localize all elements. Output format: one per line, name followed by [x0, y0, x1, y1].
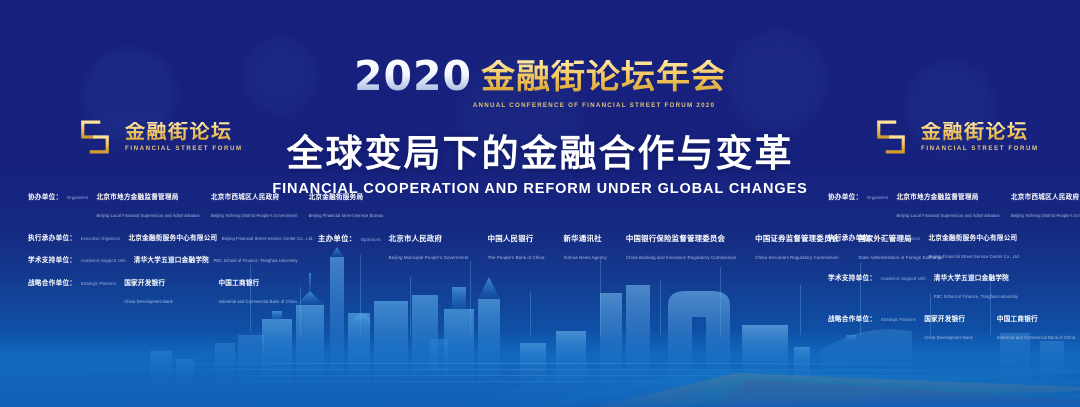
- sponsor-item: 中国工商银行 Industrial and Commercial Bank of…: [997, 308, 1078, 344]
- forum-logo-cn: 金融街论坛: [125, 122, 243, 143]
- sponsor-item-en: State Administration of Foreign Exchange: [858, 255, 943, 260]
- sponsor-row-label: 战略合作单位： Strategic Partners: [828, 308, 916, 326]
- sponsor-item: 清华大学五道口金融学院 PBC School of Finance, Tsing…: [934, 267, 1078, 303]
- sponsor-row-label: 协办单位： Organizers: [28, 186, 88, 204]
- sponsor-panel-center: 主办单位： Sponsors 北京市人民政府 Beijing Municipal…: [318, 228, 768, 264]
- sponsor-item: 北京金融街服务中心有限公司 Beijing Financial Street S…: [128, 227, 313, 245]
- forum-logo-cn: 金融街论坛: [921, 122, 1039, 143]
- event-title-cn: 金融街论坛年会: [481, 60, 726, 94]
- sponsor-item: 北京金融街服务中心有限公司 Beijing Financial Street S…: [928, 227, 1078, 263]
- sponsor-row: 协办单位： Organizers 北京市地方金融监督管理局 Beijing Lo…: [28, 186, 328, 222]
- sponsor-items: 北京金融街服务中心有限公司 Beijing Financial Street S…: [928, 227, 1078, 263]
- sponsor-item-cn: 北京市西城区人民政府: [211, 194, 279, 201]
- sponsor-item-cn: 北京金融街服务局: [309, 194, 364, 201]
- sponsor-row: 主办单位： Sponsors 北京市人民政府 Beijing Municipal…: [318, 228, 768, 264]
- sponsor-item-en: China Development Bank: [924, 335, 973, 340]
- sponsor-item-cn: 中国证券监督管理委员会: [755, 234, 839, 243]
- sponsor-items: 国家开发银行 China Development Bank 中国工商银行 Ind…: [924, 308, 1078, 344]
- conference-backdrop: 2020 金融街论坛年会 ANNUAL CONFERENCE OF FINANC…: [0, 0, 1080, 407]
- sponsor-item: 北京市地方金融监督管理局 Beijing Local Financial Sup…: [96, 186, 199, 222]
- sponsor-item-en: Beijing Xicheng District People's Govern…: [1011, 213, 1080, 218]
- sponsor-item: 北京市西城区人民政府 Beijing Xicheng District Peop…: [1011, 186, 1080, 222]
- fsf-monogram-icon: [74, 116, 116, 158]
- sponsor-row-label: 协办单位： Organizers: [828, 186, 888, 204]
- sponsor-item: 中国银行保险监督管理委员会 China Banking and Insuranc…: [626, 228, 736, 264]
- sponsor-row-label: 战略合作单位： Strategic Partners: [28, 272, 116, 290]
- sponsor-items: 北京市地方金融监督管理局 Beijing Local Financial Sup…: [896, 186, 1080, 222]
- sponsor-item-en: Beijing Financial Street Service Bureau: [309, 213, 384, 218]
- sponsor-items: 清华大学五道口金融学院 PBC School of Finance, Tsing…: [934, 267, 1078, 303]
- sponsor-label-cn: 学术支持单位：: [828, 275, 876, 282]
- sponsor-item: 国家开发银行 China Development Bank: [924, 308, 986, 344]
- sponsor-row-label: 执行承办单位： Executive Organizer: [28, 227, 120, 245]
- sponsor-items: 清华大学五道口金融学院 PBC School of Finance, Tsing…: [134, 249, 298, 267]
- sponsor-item: 中国证券监督管理委员会 China Securities Regulatory …: [755, 228, 839, 264]
- sponsor-item-en: Industrial and Commercial Bank of China: [218, 299, 296, 304]
- sponsor-row: 协办单位： Organizers 北京市地方金融监督管理局 Beijing Lo…: [828, 186, 1078, 222]
- forum-logo-en: FINANCIAL STREET FORUM: [921, 145, 1039, 152]
- sponsor-item-en: China Development Bank: [124, 299, 173, 304]
- sponsor-row: 执行承办单位： Executive Organizer 北京金融街服务中心有限公…: [28, 227, 328, 245]
- sponsor-item-cn: 中国工商银行: [218, 280, 259, 287]
- title-row: 2020 金融街论坛年会: [0, 56, 1080, 97]
- forum-logo-right: 金融街论坛 FINANCIAL STREET FORUM: [870, 116, 1039, 158]
- sponsor-item-cn: 北京市西城区人民政府: [1011, 194, 1079, 201]
- sponsor-item-cn: 国家开发银行: [924, 316, 965, 323]
- sponsor-item-en: PBC School of Finance, Tsinghua Universi…: [213, 258, 297, 263]
- sponsor-item-cn: 清华大学五道口金融学院: [934, 275, 1009, 282]
- sponsor-label-en: Sponsors: [361, 237, 381, 242]
- sponsor-item-en: Xinhua News Agency: [564, 255, 607, 260]
- sponsor-row-label: 学术支持单位： Academic Support Unit: [28, 249, 126, 267]
- sponsor-label-cn: 协办单位：: [28, 194, 62, 201]
- sponsor-label-cn: 执行承办单位：: [28, 235, 76, 242]
- sponsor-item-cn: 清华大学五道口金融学院: [134, 257, 209, 264]
- sponsor-row-label: 学术支持单位： Academic Support Unit: [828, 267, 926, 285]
- sponsor-item-en: China Banking and Insurance Regulatory C…: [626, 255, 736, 260]
- sponsor-item: 北京金融街服务局 Beijing Financial Street Servic…: [309, 186, 384, 222]
- sponsor-panel-right: 协办单位： Organizers 北京市地方金融监督管理局 Beijing Lo…: [828, 186, 1078, 344]
- sponsor-item-en: Beijing Xicheng District People's Govern…: [211, 213, 298, 218]
- forum-logo-left: 金融街论坛 FINANCIAL STREET FORUM: [74, 116, 243, 158]
- sponsor-row: 学术支持单位： Academic Support Unit 清华大学五道口金融学…: [28, 249, 328, 267]
- sponsor-label-cn: 学术支持单位：: [28, 257, 76, 264]
- sponsor-label-en: Strategic Partners: [81, 281, 116, 286]
- sponsor-panel-left: 协办单位： Organizers 北京市地方金融监督管理局 Beijing Lo…: [28, 186, 328, 308]
- sponsor-item: 新华通讯社 Xinhua News Agency: [564, 228, 607, 264]
- sponsor-label-en: Academic Support Unit: [881, 276, 926, 281]
- sponsor-item: 北京市人民政府 Beijing Municipal People's Gover…: [389, 228, 469, 264]
- sponsor-label-en: Organizers: [67, 195, 89, 200]
- sponsor-item: 国家外汇管理局 State Administration of Foreign …: [858, 228, 943, 264]
- sponsor-item-en: The People's Bank of China: [488, 255, 545, 260]
- sponsor-row: 战略合作单位： Strategic Partners 国家开发银行 China …: [828, 308, 1078, 344]
- sponsor-label-cn: 战略合作单位：: [828, 316, 876, 323]
- sponsor-item: 清华大学五道口金融学院 PBC School of Finance, Tsing…: [134, 249, 298, 267]
- sponsor-item-cn: 北京市人民政府: [389, 234, 443, 243]
- sponsor-row: 学术支持单位： Academic Support Unit 清华大学五道口金融学…: [828, 267, 1078, 303]
- sponsor-item-cn: 中国银行保险监督管理委员会: [626, 234, 725, 243]
- sponsor-item-cn: 中国人民银行: [488, 234, 534, 243]
- sponsor-label-cn: 战略合作单位：: [28, 280, 76, 287]
- sponsor-row: 战略合作单位： Strategic Partners 国家开发银行 China …: [28, 272, 328, 308]
- sponsor-item-en: Industrial and Commercial Bank of China: [997, 335, 1075, 340]
- sponsor-label-en: Academic Support Unit: [81, 258, 126, 263]
- sponsor-item-en: Beijing Local Financial Supervision and …: [896, 213, 999, 218]
- sponsor-item: 国家开发银行 China Development Bank: [124, 272, 207, 308]
- event-year: 2020: [354, 56, 472, 97]
- sponsor-label-cn: 协办单位：: [828, 194, 862, 201]
- sponsor-label-en: Strategic Partners: [881, 317, 916, 322]
- sponsor-label-en: Organizers: [867, 195, 889, 200]
- sponsor-item-cn: 北京金融街服务中心有限公司: [128, 235, 217, 242]
- sponsor-items: 北京市人民政府 Beijing Municipal People's Gover…: [389, 228, 943, 264]
- sponsor-item: 中国工商银行 Industrial and Commercial Bank of…: [218, 272, 328, 308]
- sponsor-items: 北京金融街服务中心有限公司 Beijing Financial Street S…: [128, 227, 313, 245]
- sponsor-item-en: Beijing Financial Street Service Center …: [222, 236, 314, 241]
- forum-logo-text: 金融街论坛 FINANCIAL STREET FORUM: [921, 122, 1039, 152]
- sponsor-items: 北京市地方金融监督管理局 Beijing Local Financial Sup…: [96, 186, 383, 222]
- fsf-monogram-icon: [870, 116, 912, 158]
- sponsor-item: 北京市地方金融监督管理局 Beijing Local Financial Sup…: [896, 186, 999, 222]
- event-title-block: 2020 金融街论坛年会 ANNUAL CONFERENCE OF FINANC…: [0, 56, 1080, 109]
- sponsor-item-en: China Securities Regulatory Commission: [755, 255, 839, 260]
- sponsor-item-cn: 国家外汇管理局: [858, 234, 912, 243]
- sponsor-row-label: 主办单位： Sponsors: [318, 228, 381, 246]
- event-title-en: ANNUAL CONFERENCE OF FINANCIAL STREET FO…: [0, 102, 1080, 109]
- sponsor-items: 国家开发银行 China Development Bank 中国工商银行 Ind…: [124, 272, 328, 308]
- sponsor-item-cn: 新华通讯社: [564, 234, 602, 243]
- sponsor-label-cn: 主办单位：: [318, 234, 356, 243]
- sponsor-item-cn: 北京市地方金融监督管理局: [896, 194, 978, 201]
- forum-logo-text: 金融街论坛 FINANCIAL STREET FORUM: [125, 122, 243, 152]
- sponsor-item-en: Beijing Municipal People's Government: [389, 255, 469, 260]
- sponsor-item: 北京市西城区人民政府 Beijing Xicheng District Peop…: [211, 186, 298, 222]
- sponsor-item-en: PBC School of Finance, Tsinghua Universi…: [934, 294, 1018, 299]
- sponsor-item: 中国人民银行 The People's Bank of China: [488, 228, 545, 264]
- sponsor-item-cn: 国家开发银行: [124, 280, 165, 287]
- sponsor-item-cn: 中国工商银行: [997, 316, 1038, 323]
- sponsor-item-cn: 北京市地方金融监督管理局: [96, 194, 178, 201]
- sponsor-label-en: Executive Organizer: [81, 236, 121, 241]
- forum-logo-en: FINANCIAL STREET FORUM: [125, 145, 243, 152]
- sponsor-item-en: Beijing Local Financial Supervision and …: [96, 213, 199, 218]
